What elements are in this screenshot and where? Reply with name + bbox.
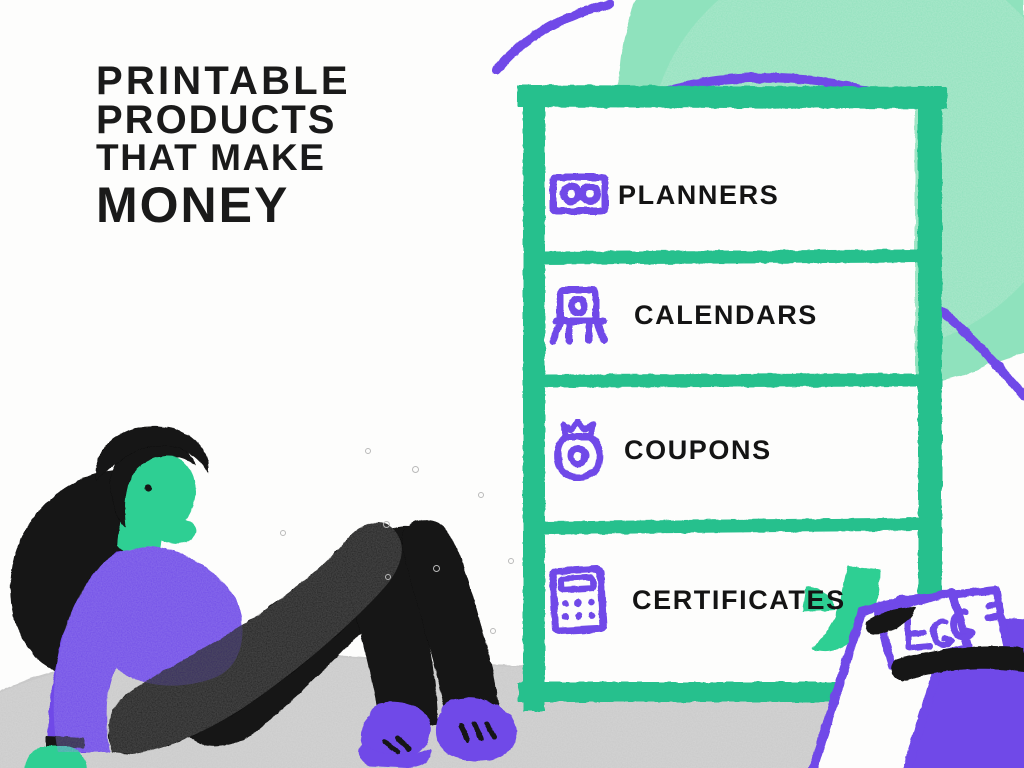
- list-item-label: CERTIFICATES: [632, 585, 846, 616]
- list-item-calendars[interactable]: CALENDARS: [540, 255, 940, 375]
- headline-line-1: PRINTABLE: [96, 62, 436, 101]
- headline-line-3: THAT MAKE: [96, 140, 436, 176]
- speckle-dot: [383, 521, 390, 528]
- list-item-certificates[interactable]: CERTIFICATES: [540, 540, 940, 660]
- cassette-planner-icon: [540, 168, 618, 222]
- list-item-label: CALENDARS: [634, 300, 818, 331]
- speckle-dot: [412, 466, 419, 473]
- speckle-dot: [385, 574, 391, 580]
- list-item-planners[interactable]: PLANNERS: [540, 135, 940, 255]
- speckle-dot: [433, 565, 440, 572]
- speckle-dot: [508, 558, 514, 564]
- speckle-dot: [490, 628, 496, 634]
- product-list: PLANNERS CALENDARS: [540, 100, 940, 700]
- speckle-dot: [478, 492, 484, 498]
- list-item-label: COUPONS: [624, 435, 772, 466]
- calculator-icon: [540, 564, 618, 636]
- page-title: PRINTABLE PRODUCTS THAT MAKE MONEY: [96, 62, 436, 230]
- money-bag-icon: [540, 419, 618, 481]
- poster-canvas: PLANNERS CALENDARS: [0, 0, 1024, 768]
- headline-line-2: PRODUCTS: [96, 101, 436, 140]
- easel-calendar-icon: [540, 284, 618, 346]
- headline-line-4: MONEY: [96, 177, 436, 230]
- speckle-dot: [280, 530, 286, 536]
- list-item-label: PLANNERS: [618, 180, 779, 211]
- list-item-coupons[interactable]: COUPONS: [540, 390, 940, 510]
- speckle-dot: [365, 448, 371, 454]
